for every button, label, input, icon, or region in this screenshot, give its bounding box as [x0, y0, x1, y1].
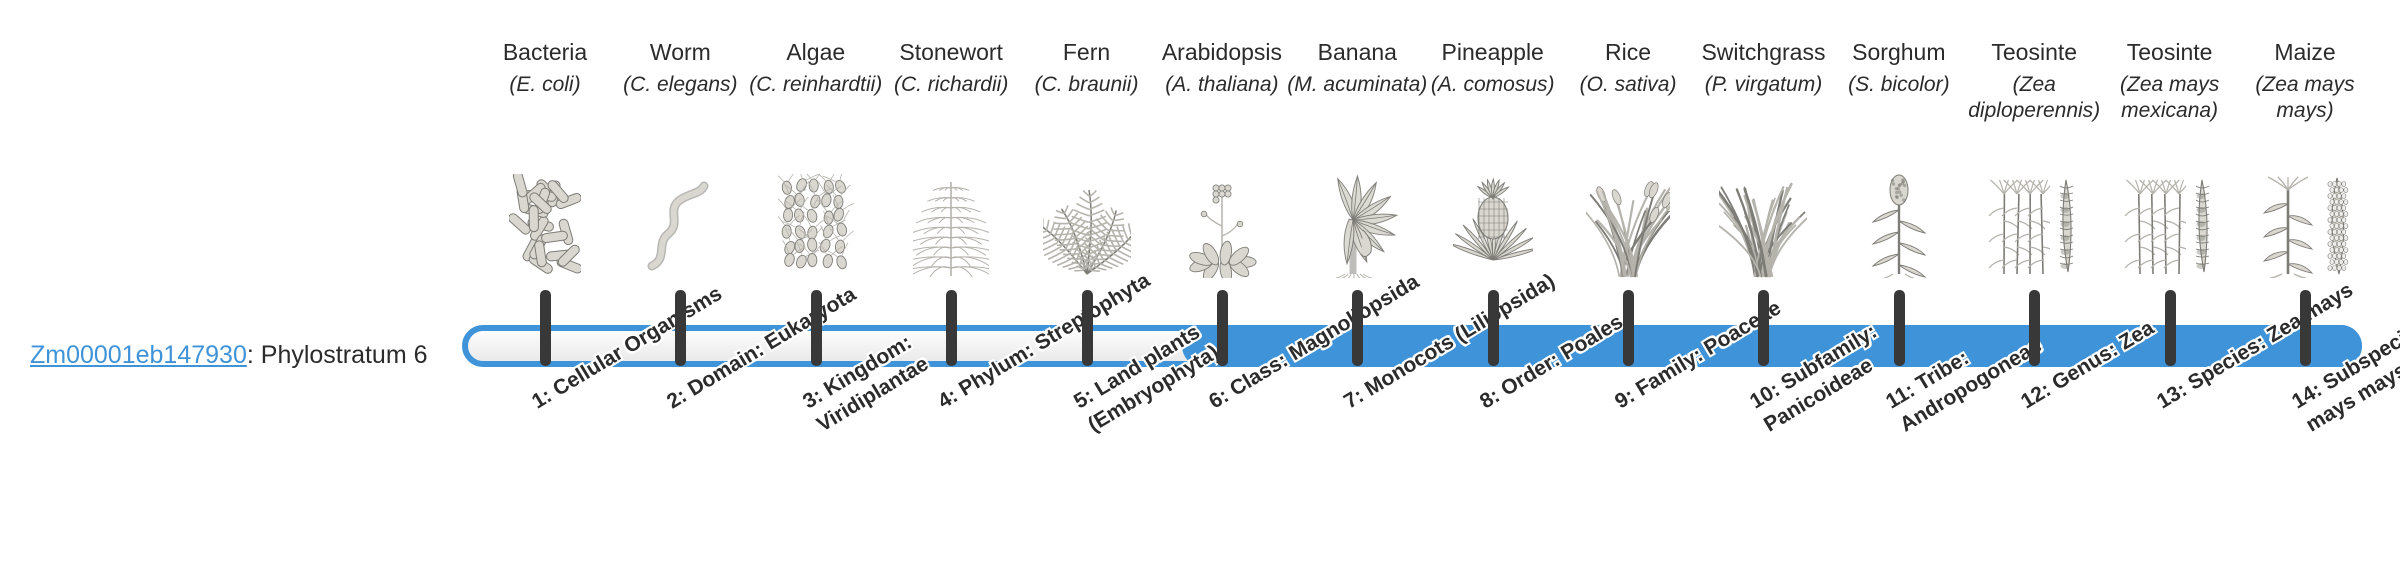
bacteria-rods-illustration: [470, 168, 620, 278]
taxon-name-block: Algae(C. reinhardtii): [741, 38, 891, 98]
taxon-common-name: Teosinte: [2095, 38, 2245, 66]
phylostratum-tick-10[interactable]: [1758, 290, 1769, 366]
taxon-scientific-name: (Zea mays mays): [2230, 72, 2380, 124]
maize-plant-and-cob-illustration: [2230, 168, 2380, 278]
taxon-name-block: Teosinte(Zea diploperennis): [1959, 38, 2109, 124]
taxon-scientific-name: (A. thaliana): [1147, 72, 1297, 98]
taxon-common-name: Arabidopsis: [1147, 38, 1297, 66]
taxon-common-name: Switchgrass: [1688, 38, 1838, 66]
taxon-name-block: Stonewort(C. richardii): [876, 38, 1026, 98]
stonewort-alga-illustration: [876, 168, 1026, 278]
teosinte-plant-and-ear-illustration: [1959, 168, 2109, 278]
phylostratum-tick-7[interactable]: [1352, 290, 1363, 366]
taxon-common-name: Stonewort: [876, 38, 1026, 66]
taxon-scientific-name: (M. acuminata): [1282, 72, 1432, 98]
taxon-common-name: Teosinte: [1959, 38, 2109, 66]
taxon-name-block: Pineapple(A. comosus): [1418, 38, 1568, 98]
taxon-column-container: Bacteria(E. coli)1: Cellular OrganismsWo…: [0, 0, 2400, 580]
taxon-scientific-name: (Zea diploperennis): [1959, 72, 2109, 124]
taxon-name-block: Maize(Zea mays mays): [2230, 38, 2380, 124]
taxon-name-block: Teosinte(Zea mays mexicana): [2095, 38, 2245, 124]
phylostratum-tick-8[interactable]: [1488, 290, 1499, 366]
taxon-scientific-name: (C. elegans): [605, 72, 755, 98]
taxon-common-name: Algae: [741, 38, 891, 66]
arabidopsis-rosette-illustration: [1147, 168, 1297, 278]
teosinte-mexicana-plant-and-ear-illustration: [2095, 168, 2245, 278]
taxon-common-name: Banana: [1282, 38, 1432, 66]
taxon-common-name: Worm: [605, 38, 755, 66]
phylostratum-tick-9[interactable]: [1623, 290, 1634, 366]
taxon-scientific-name: (C. reinhardtii): [741, 72, 891, 98]
phylostratum-tick-1[interactable]: [540, 290, 551, 366]
taxon-name-block: Banana(M. acuminata): [1282, 38, 1432, 98]
switchgrass-clump-illustration: [1688, 168, 1838, 278]
phylostratum-tick-5[interactable]: [1082, 290, 1093, 366]
pineapple-plant-illustration: [1418, 168, 1568, 278]
taxon-common-name: Pineapple: [1418, 38, 1568, 66]
banana-plant-illustration: [1282, 168, 1432, 278]
phylostratum-tick-14[interactable]: [2300, 290, 2311, 366]
taxon-scientific-name: (P. virgatum): [1688, 72, 1838, 98]
taxon-name-block: Rice(O. sativa): [1553, 38, 1703, 98]
green-algae-cells-illustration: [741, 168, 891, 278]
phylostratum-tick-2[interactable]: [675, 290, 686, 366]
taxon-common-name: Fern: [1012, 38, 1162, 66]
taxon-common-name: Maize: [2230, 38, 2380, 66]
taxon-scientific-name: (O. sativa): [1553, 72, 1703, 98]
taxon-common-name: Sorghum: [1824, 38, 1974, 66]
phylostratum-tick-3[interactable]: [811, 290, 822, 366]
taxon-name-block: Fern(C. braunii): [1012, 38, 1162, 98]
taxon-scientific-name: (C. richardii): [876, 72, 1026, 98]
taxon-common-name: Bacteria: [470, 38, 620, 66]
taxon-scientific-name: (S. bicolor): [1824, 72, 1974, 98]
taxon-common-name: Rice: [1553, 38, 1703, 66]
taxon-name-block: Arabidopsis(A. thaliana): [1147, 38, 1297, 98]
taxon-name-block: Switchgrass(P. virgatum): [1688, 38, 1838, 98]
phylostratum-tick-4[interactable]: [946, 290, 957, 366]
fern-frond-illustration: [1012, 168, 1162, 278]
taxon-scientific-name: (A. comosus): [1418, 72, 1568, 98]
taxon-name-block: Worm(C. elegans): [605, 38, 755, 98]
taxon-scientific-name: (C. braunii): [1012, 72, 1162, 98]
taxon-name-block: Sorghum(S. bicolor): [1824, 38, 1974, 98]
sorghum-plant-illustration: [1824, 168, 1974, 278]
phylostratum-tick-6[interactable]: [1217, 290, 1228, 366]
phylostratum-tick-11[interactable]: [1894, 290, 1905, 366]
nematode-worm-illustration: [605, 168, 755, 278]
phylostratum-tick-13[interactable]: [2165, 290, 2176, 366]
taxon-scientific-name: (E. coli): [470, 72, 620, 98]
taxon-scientific-name: (Zea mays mexicana): [2095, 72, 2245, 124]
rice-plant-illustration: [1553, 168, 1703, 278]
phylostratum-tick-12[interactable]: [2029, 290, 2040, 366]
taxon-name-block: Bacteria(E. coli): [470, 38, 620, 98]
